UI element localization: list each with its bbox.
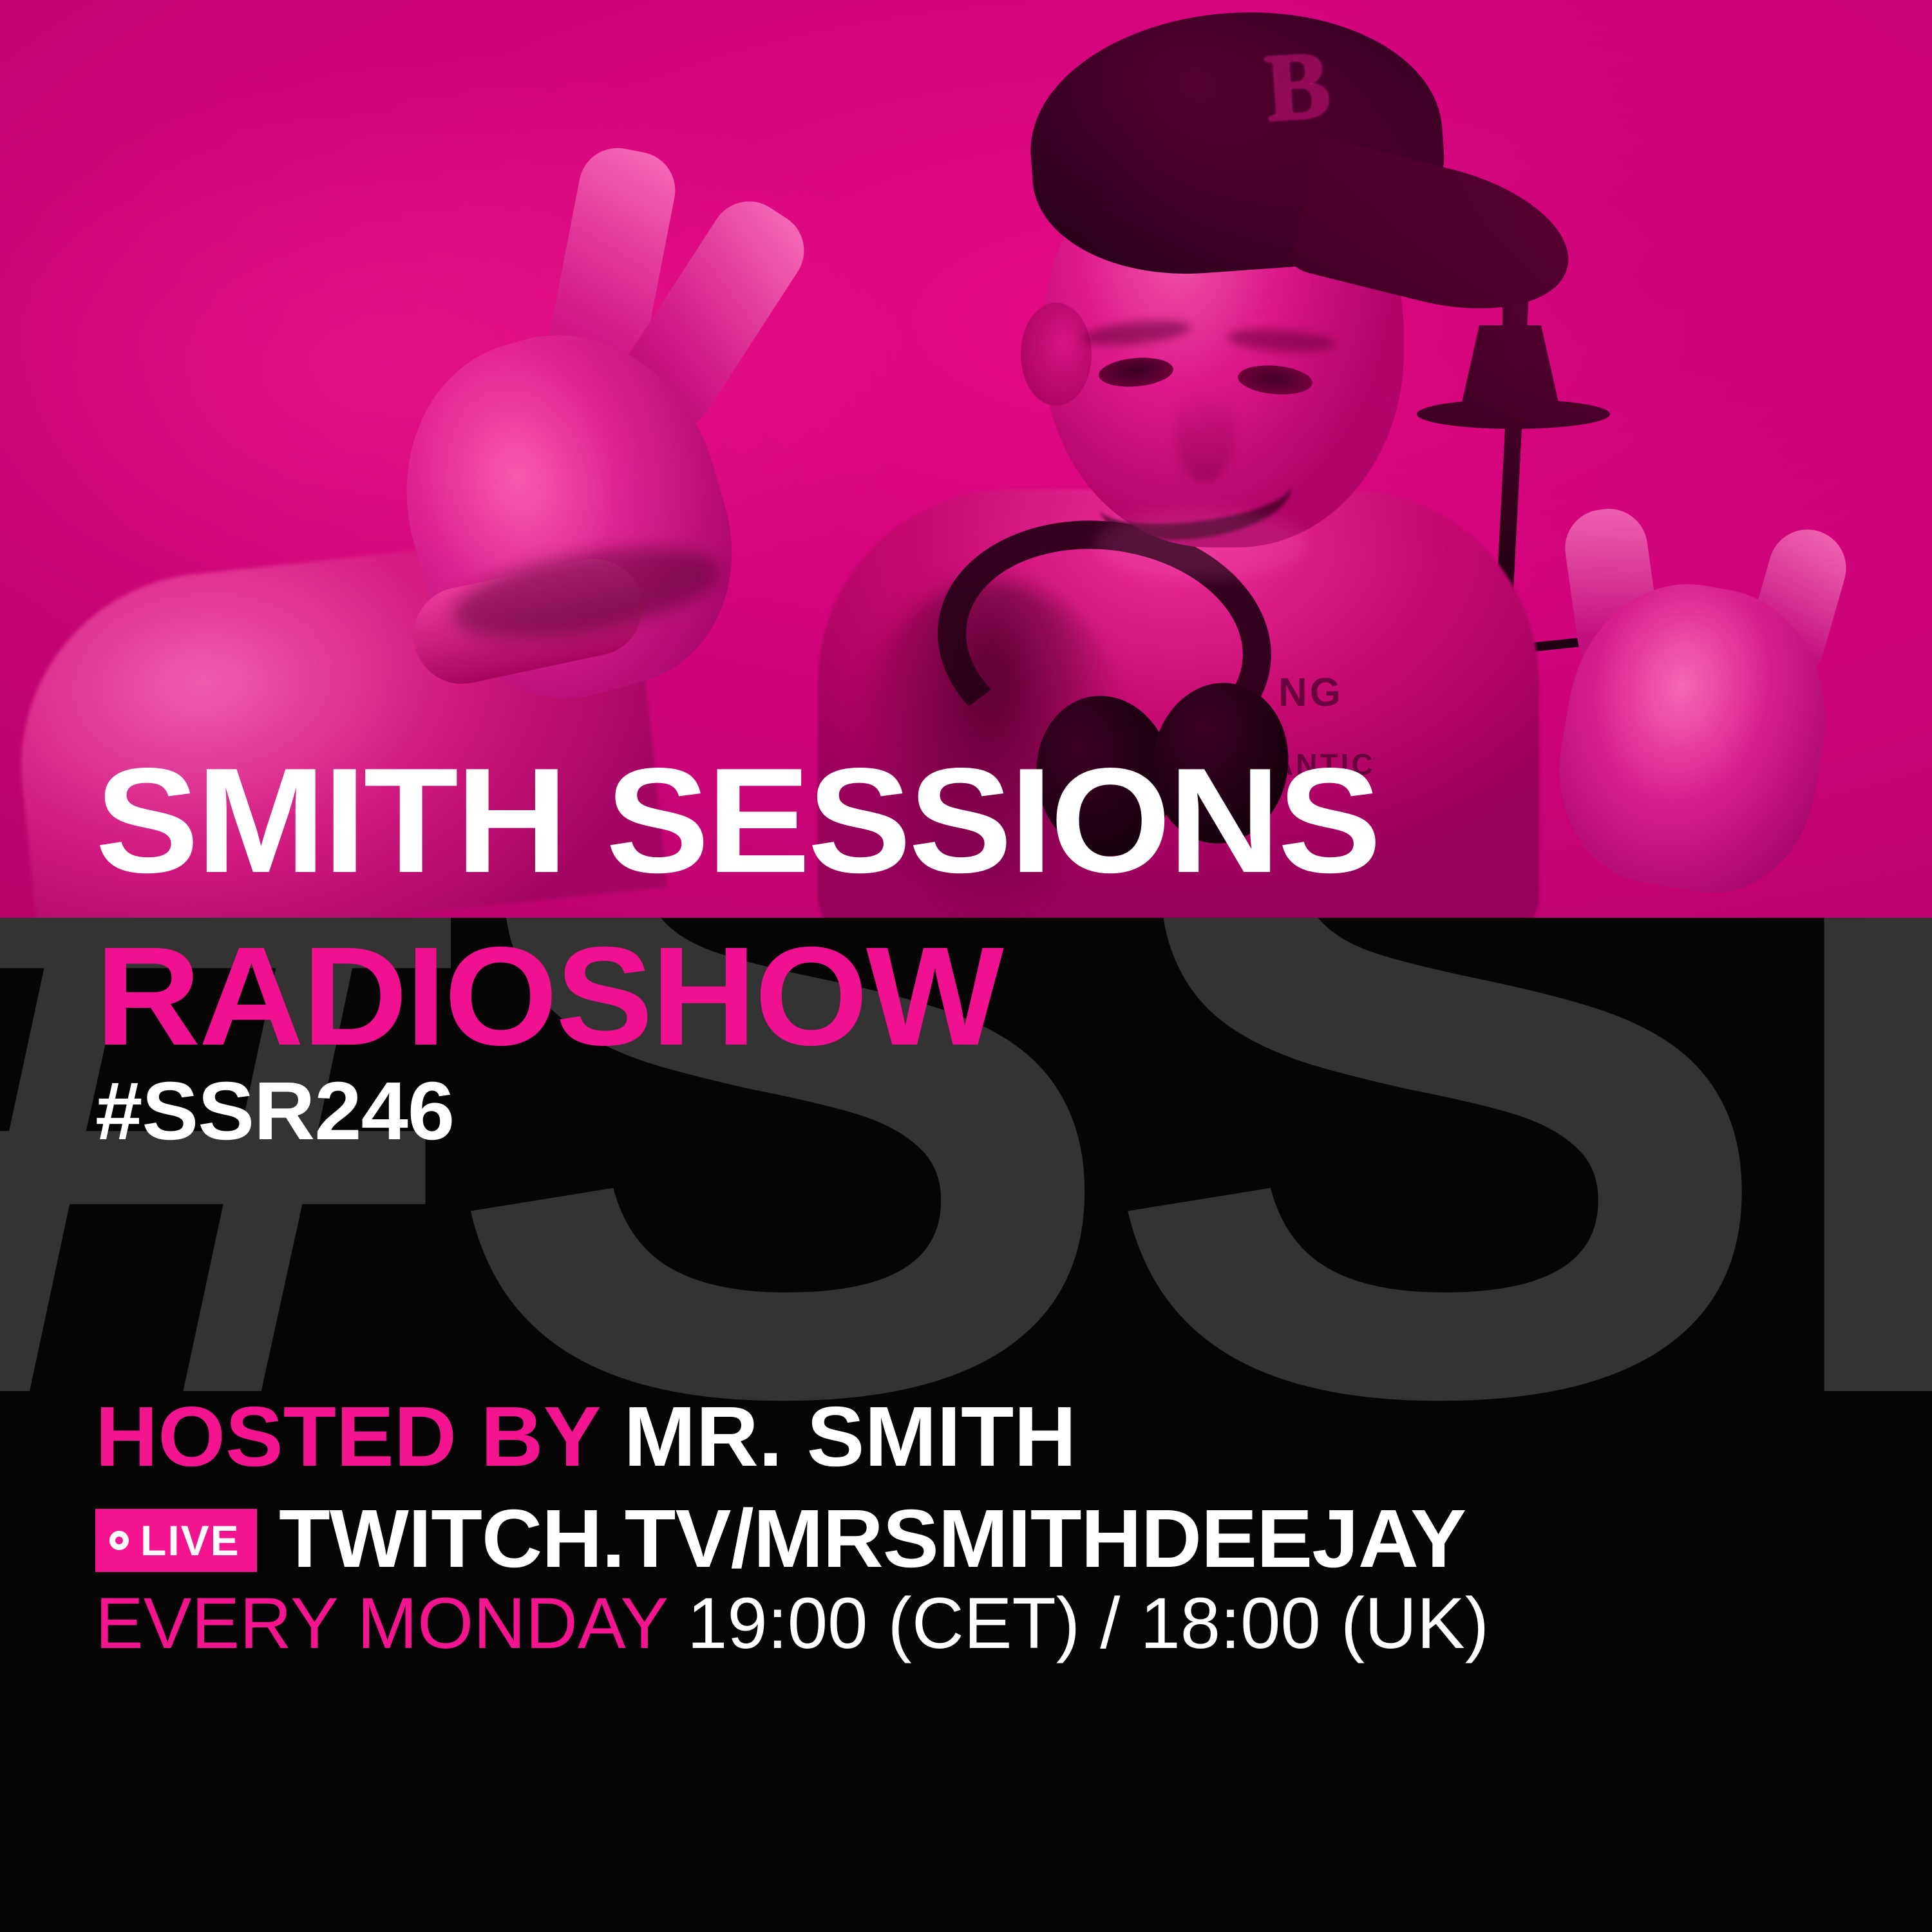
show-title-line2: RADIOSHOW: [95, 933, 1002, 1062]
channel-url[interactable]: TWITCH.TV/MRSMITHDEEJAY: [279, 1498, 1466, 1580]
live-badge: LIVE: [95, 1509, 257, 1572]
hosted-by-line: HOSTED BY MR. SMITH: [95, 1394, 1077, 1479]
schedule-time: 19:00 (CET) / 18:00 (UK): [687, 1583, 1489, 1663]
hosted-by-label: HOSTED BY: [95, 1389, 600, 1484]
record-dot-icon: [109, 1531, 129, 1550]
channel-row[interactable]: LIVE TWITCH.TV/MRSMITHDEEJAY: [95, 1498, 1443, 1580]
radioshow-poster: NG ANTIC B: [0, 0, 1932, 1932]
host-name: MR. SMITH: [623, 1389, 1076, 1484]
schedule-day: EVERY MONDAY: [95, 1583, 667, 1663]
live-label: LIVE: [140, 1519, 240, 1562]
show-title-line1: SMITH SESSIONS: [95, 752, 1379, 889]
poster-text-layer: SMITH SESSIONS RADIOSHOW #SSR246 HOSTED …: [0, 0, 1932, 1932]
schedule-line: EVERY MONDAY 19:00 (CET) / 18:00 (UK): [95, 1587, 1489, 1660]
episode-hashtag: #SSR246: [95, 1070, 454, 1153]
